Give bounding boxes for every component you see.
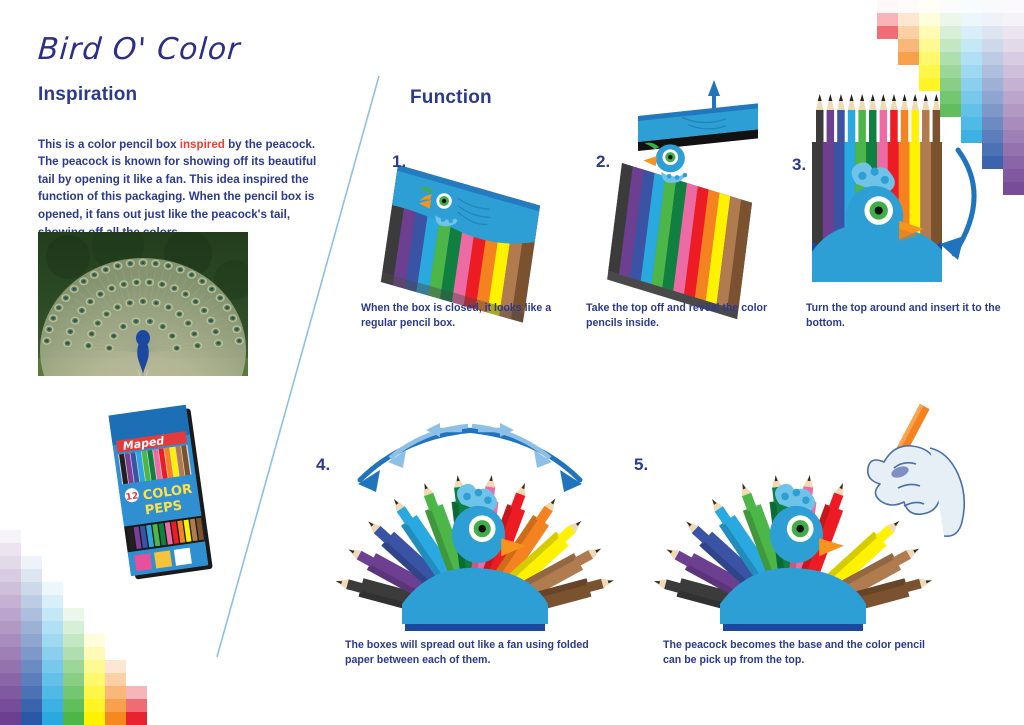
color-swatch [982, 52, 1003, 65]
color-swatch [42, 686, 63, 699]
step-3-illustration [790, 92, 990, 292]
color-swatch [940, 0, 961, 13]
swatch-column [1003, 0, 1024, 195]
pencil [837, 94, 845, 148]
peacock-photo [38, 232, 248, 376]
color-swatch [21, 582, 42, 595]
step-5-illustration [648, 418, 978, 633]
color-swatch [0, 530, 21, 543]
color-swatch [21, 556, 42, 569]
intro-highlight: inspired [180, 138, 225, 151]
section-heading-function: Function [410, 87, 492, 109]
swatch-column [21, 556, 42, 725]
swatch-column [898, 0, 919, 65]
color-swatch [940, 13, 961, 26]
color-swatch [1003, 26, 1024, 39]
color-swatch [63, 608, 84, 621]
color-swatch [21, 569, 42, 582]
color-swatch [0, 569, 21, 582]
color-swatch [21, 595, 42, 608]
pencil [827, 94, 835, 148]
color-swatch [1003, 13, 1024, 26]
color-swatch [63, 686, 84, 699]
color-swatch [42, 608, 63, 621]
color-swatch [961, 78, 982, 91]
color-swatch [0, 673, 21, 686]
swatch-column [42, 582, 63, 725]
color-swatch [898, 52, 919, 65]
pencil [890, 94, 898, 148]
step-4-illustration [330, 418, 620, 633]
color-swatch [1003, 104, 1024, 117]
hand-illustration [868, 446, 965, 536]
inspiration-body-text: This is a color pencil box inspired by t… [38, 136, 328, 242]
color-swatch [42, 621, 63, 634]
color-swatch [1003, 169, 1024, 182]
pencil [901, 94, 909, 148]
color-swatch [0, 686, 21, 699]
color-swatch [961, 0, 982, 13]
color-swatch [21, 608, 42, 621]
color-swatch [21, 673, 42, 686]
step-2-illustration [600, 88, 785, 288]
color-swatch [0, 621, 21, 634]
color-swatch [982, 26, 1003, 39]
color-swatch [105, 712, 126, 725]
color-swatch [0, 634, 21, 647]
color-swatch [982, 13, 1003, 26]
color-swatch [42, 634, 63, 647]
color-swatch [940, 39, 961, 52]
color-swatch [0, 582, 21, 595]
color-swatch [919, 0, 940, 13]
color-swatch [961, 26, 982, 39]
page-title: Bird O' Color [37, 32, 242, 67]
pencil [848, 94, 856, 148]
step-number-3: 3. [792, 155, 806, 175]
color-swatch [42, 647, 63, 660]
color-swatch [42, 660, 63, 673]
color-swatch [105, 686, 126, 699]
color-swatch [1003, 91, 1024, 104]
step-number-4: 4. [316, 455, 330, 475]
color-swatch [21, 712, 42, 725]
color-swatch [84, 660, 105, 673]
color-swatch [982, 39, 1003, 52]
intro-pre: This is a color pencil box [38, 138, 180, 151]
color-swatch [0, 647, 21, 660]
color-swatch [21, 621, 42, 634]
color-swatch [919, 13, 940, 26]
color-swatch [1003, 78, 1024, 91]
color-swatch [940, 78, 961, 91]
color-swatch [919, 52, 940, 65]
color-swatch [1003, 39, 1024, 52]
poster-page: Bird O' Color Inspiration Function This … [0, 0, 1024, 725]
pencil [880, 94, 888, 148]
step-caption-5: The peacock becomes the base and the col… [663, 638, 933, 669]
step-number-5: 5. [634, 455, 648, 475]
color-swatch [0, 608, 21, 621]
section-heading-inspiration: Inspiration [38, 84, 137, 106]
swatch-column [0, 530, 21, 725]
color-swatch [126, 699, 147, 712]
step-caption-3: Turn the top around and insert it to the… [806, 301, 1016, 332]
swatch-column [84, 634, 105, 725]
color-swatch [63, 660, 84, 673]
color-swatch [63, 621, 84, 634]
color-swatch [63, 712, 84, 725]
product-count: 12 [125, 491, 139, 503]
color-swatch [898, 39, 919, 52]
swatch-column [105, 660, 126, 725]
color-swatch [21, 699, 42, 712]
color-swatch [919, 65, 940, 78]
color-swatch [126, 686, 147, 699]
color-swatch [84, 634, 105, 647]
color-swatch [919, 78, 940, 91]
color-swatch [982, 0, 1003, 13]
pencil [858, 94, 866, 148]
color-swatch [1003, 182, 1024, 195]
color-swatch [1003, 156, 1024, 169]
color-swatch [21, 634, 42, 647]
color-swatch [1003, 143, 1024, 156]
color-swatch [42, 712, 63, 725]
color-swatch [63, 699, 84, 712]
color-swatch [877, 13, 898, 26]
color-swatch [0, 595, 21, 608]
color-swatch [1003, 65, 1024, 78]
color-swatch [84, 673, 105, 686]
color-swatch [84, 712, 105, 725]
color-swatch [126, 712, 147, 725]
pencil [911, 94, 919, 148]
color-swatch [898, 26, 919, 39]
color-swatch [940, 52, 961, 65]
pencil [922, 94, 930, 148]
color-swatch [21, 660, 42, 673]
color-swatch [961, 13, 982, 26]
color-swatch [0, 543, 21, 556]
step-number-2: 2. [596, 152, 610, 172]
color-swatch [1003, 130, 1024, 143]
color-swatch [0, 699, 21, 712]
color-swatch [105, 660, 126, 673]
pencil [869, 94, 877, 148]
color-swatch [940, 26, 961, 39]
color-swatch [42, 595, 63, 608]
step-1-illustration [380, 140, 560, 290]
intro-post: by the peacock. The peacock is known for… [38, 138, 316, 239]
color-swatch [42, 582, 63, 595]
color-swatch [0, 556, 21, 569]
color-swatch [940, 65, 961, 78]
color-swatch [105, 673, 126, 686]
step-caption-1: When the box is closed, it looks like a … [361, 301, 571, 332]
step-caption-4: The boxes will spread out like a fan usi… [345, 638, 595, 669]
color-swatch [982, 78, 1003, 91]
color-swatch [1003, 117, 1024, 130]
color-swatch [961, 65, 982, 78]
color-swatch [84, 699, 105, 712]
swatch-column [126, 686, 147, 725]
color-swatch [21, 647, 42, 660]
color-swatch [1003, 52, 1024, 65]
step-caption-2: Take the top off and reveal the color pe… [586, 301, 796, 332]
color-swatch [42, 673, 63, 686]
color-swatch [877, 26, 898, 39]
color-swatch [982, 65, 1003, 78]
color-swatch [898, 0, 919, 13]
color-swatch [0, 712, 21, 725]
color-swatch [898, 13, 919, 26]
color-swatch [84, 647, 105, 660]
color-swatch [42, 699, 63, 712]
color-swatch [105, 699, 126, 712]
pencil [933, 94, 941, 148]
color-swatch [0, 660, 21, 673]
color-swatch [919, 26, 940, 39]
step-number-1: 1. [392, 152, 406, 172]
swatch-column [919, 0, 940, 91]
product-photo: Maped 12 COLOR PEPS [110, 408, 228, 580]
swatch-column [877, 0, 898, 39]
color-swatch [961, 52, 982, 65]
swatch-column [63, 608, 84, 725]
color-swatch [21, 686, 42, 699]
pencil [816, 94, 824, 148]
color-swatch [63, 647, 84, 660]
color-swatch [63, 634, 84, 647]
color-swatch [84, 686, 105, 699]
color-swatch [961, 39, 982, 52]
color-swatch [877, 0, 898, 13]
color-swatch [1003, 0, 1024, 13]
color-swatch [919, 39, 940, 52]
color-swatch [63, 673, 84, 686]
